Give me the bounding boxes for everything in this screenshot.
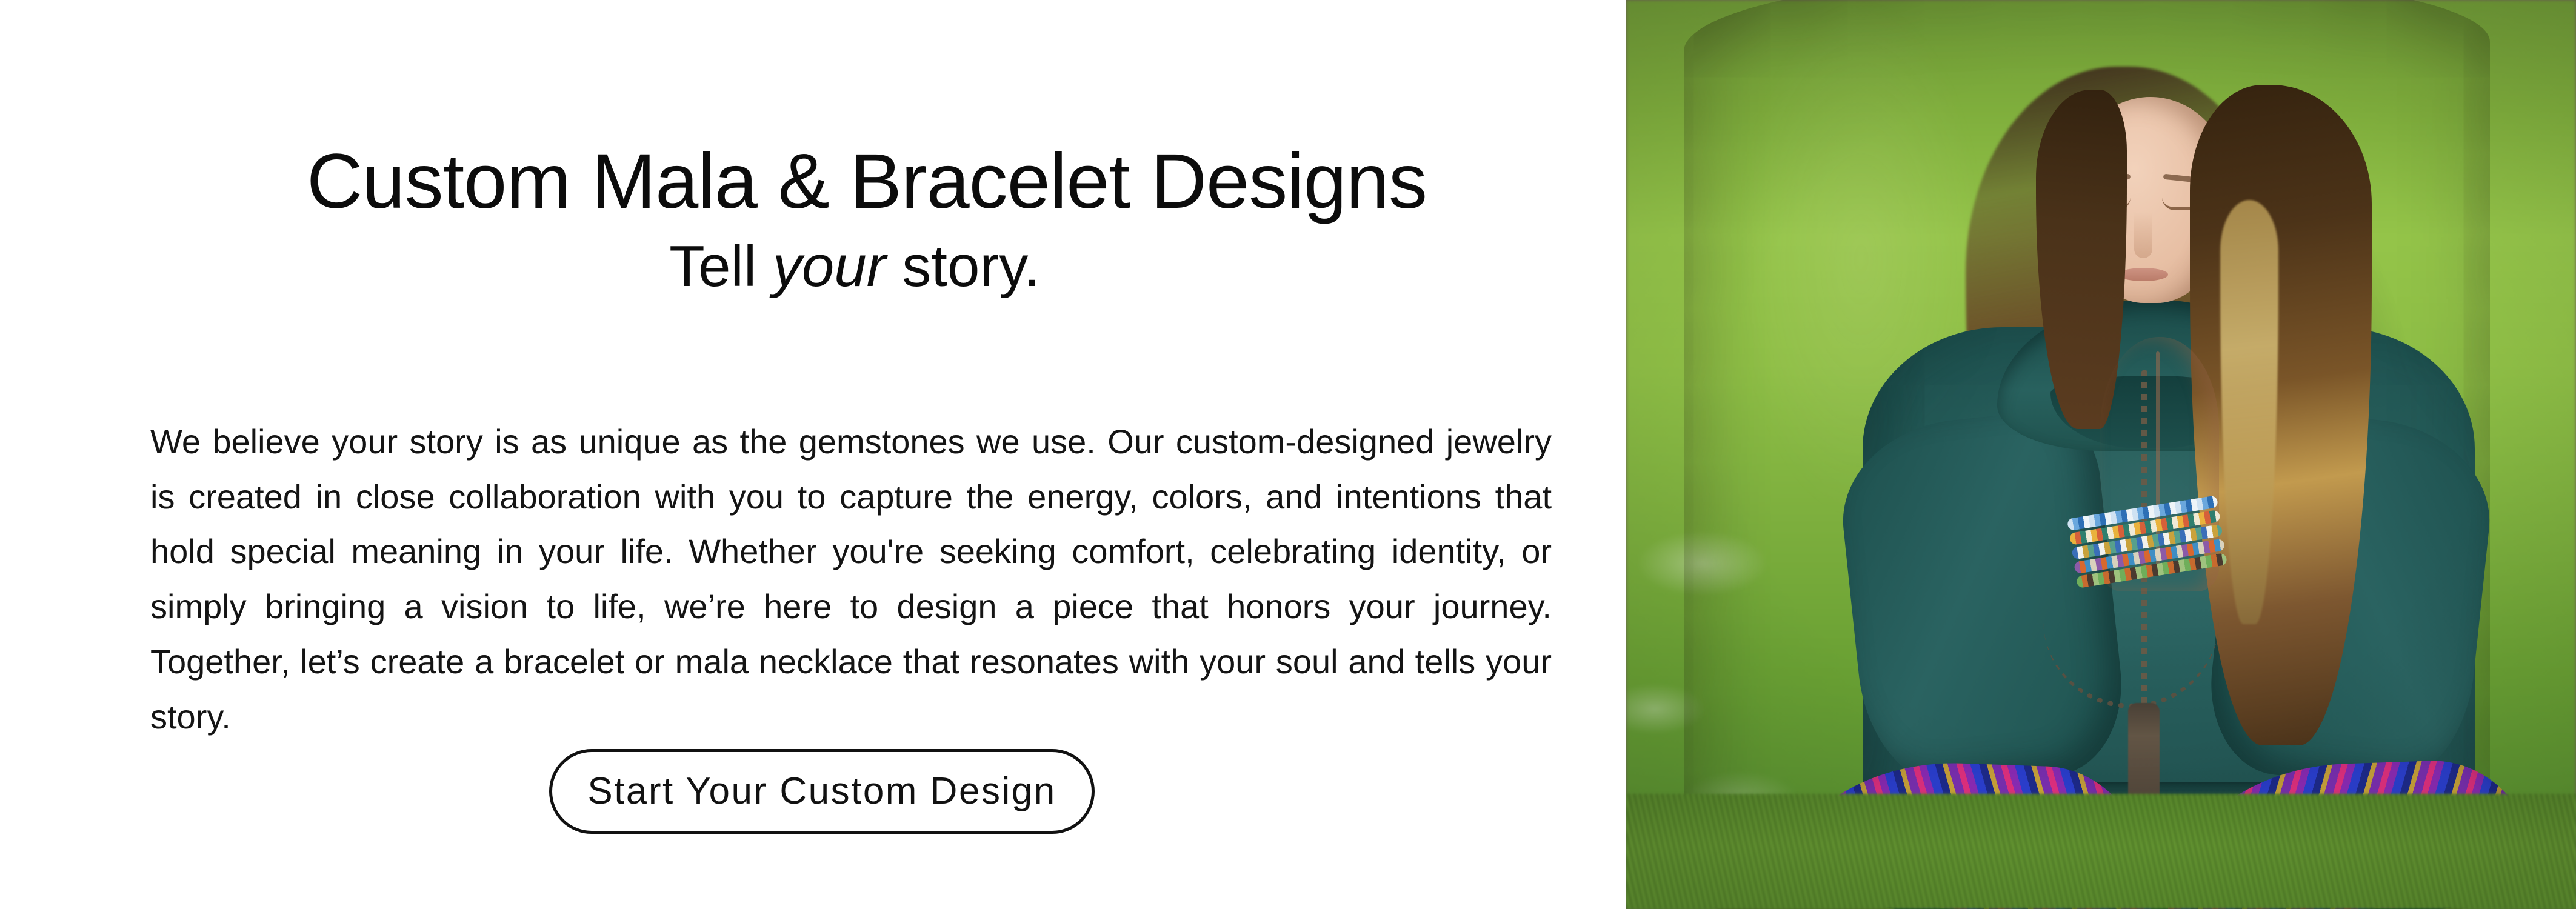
ground-grass [1626,794,2576,909]
hero-photo [1626,0,2576,909]
mouth [2118,268,2168,281]
nose [2134,212,2152,258]
hero-text-column: Custom Mala & Bracelet Designs Tell your… [0,0,1626,909]
meditating-woman [1626,0,2576,909]
custom-design-hero: Custom Mala & Bracelet Designs Tell your… [0,0,2576,909]
subheading-emphasis: your [773,234,886,299]
page-title: Custom Mala & Bracelet Designs [0,137,1733,226]
hero-body-paragraph: We believe your story is as unique as th… [150,415,1552,744]
hero-subheading: Tell your story. [0,231,1709,301]
subheading-before: Tell [669,234,773,299]
subheading-after: story. [886,234,1040,299]
start-custom-design-button[interactable]: Start Your Custom Design [549,749,1094,834]
cta-container: Start Your Custom Design [0,749,1644,834]
